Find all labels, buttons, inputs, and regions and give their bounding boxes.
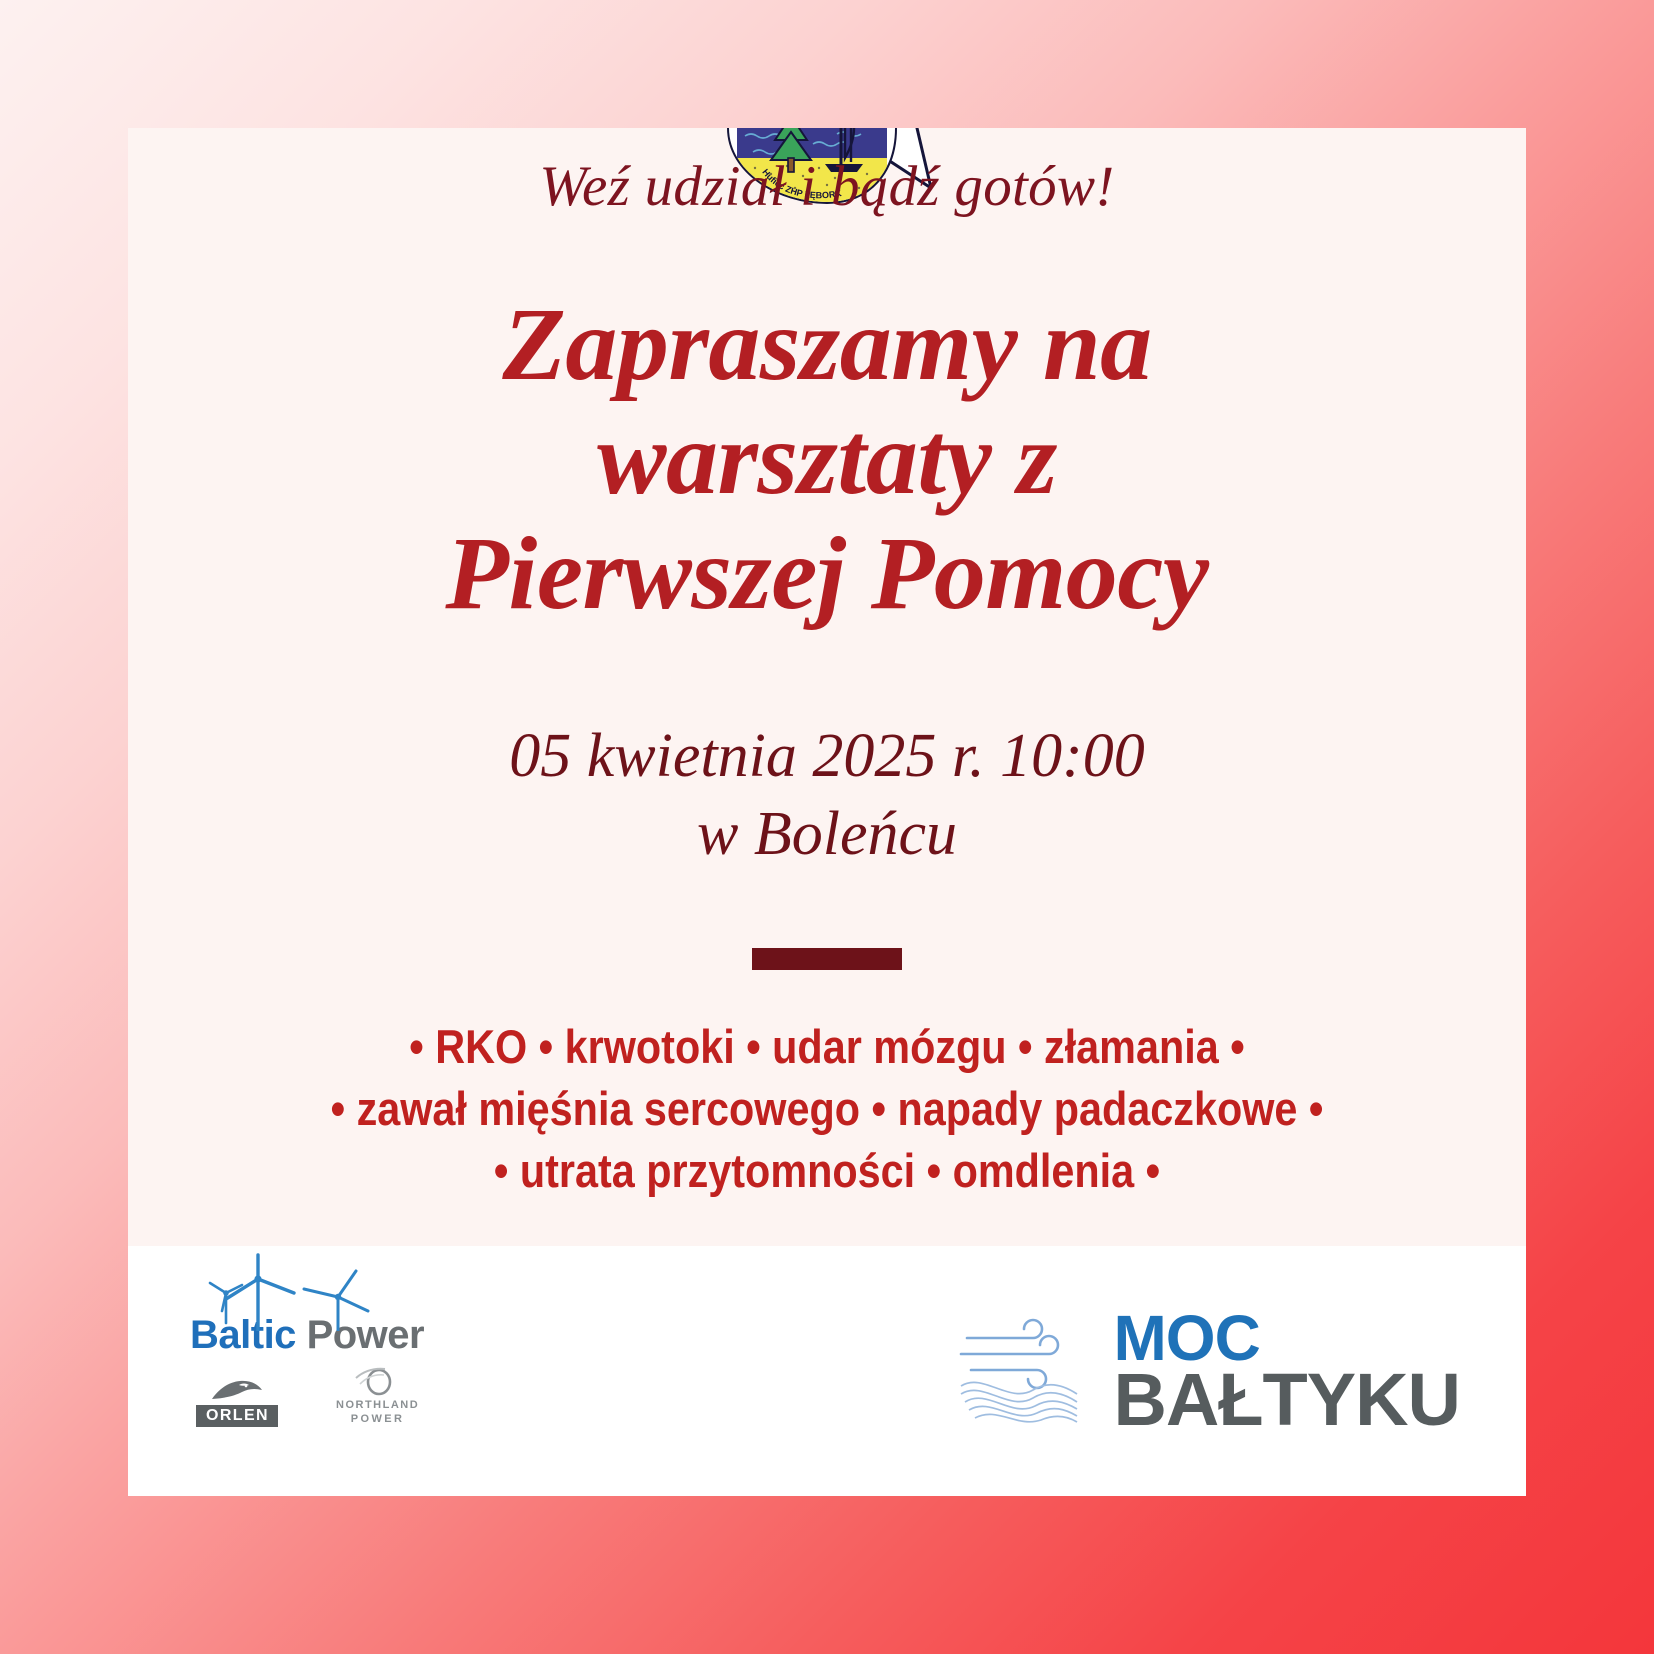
baltic-power-logo: Baltic Power: [190, 1315, 424, 1355]
divider: [752, 948, 902, 970]
orlen-logo: ORLEN: [196, 1378, 278, 1427]
baltyku-word: BAŁTYKU: [1113, 1367, 1460, 1432]
wind-waves-icon: [957, 1312, 1085, 1430]
headline-line-3: Pierwszej Pomocy: [188, 517, 1466, 631]
baltic-power-group: Baltic Power ORLEN: [184, 1315, 424, 1427]
topics-line-3: • utrata przytomności • omdlenia •: [251, 1140, 1404, 1202]
topics-line-1: • RKO • krwotoki • udar mózgu • złamania…: [251, 1016, 1404, 1078]
moc-baltyku-wordmark: MOC BAŁTYKU: [1113, 1310, 1460, 1431]
poster-card: SZCZEP DRUŻYN STARSZOHARCERSKICH · LEŚNI…: [128, 128, 1526, 1496]
moc-baltyku-logo: MOC BAŁTYKU: [957, 1310, 1464, 1431]
sub-sponsors-row: ORLEN NORTHLAND POWER: [190, 1365, 419, 1427]
orlen-wordmark: ORLEN: [196, 1405, 278, 1427]
northland-line-2: POWER: [351, 1413, 405, 1427]
headline-line-2: warsztaty z: [188, 402, 1466, 516]
sponsor-strip: Baltic Power ORLEN: [128, 1246, 1526, 1496]
page-title: Zapraszamy na warsztaty z Pierwszej Pomo…: [188, 288, 1466, 631]
tagline: Weź udział i bądź gotów!: [128, 156, 1526, 219]
topics-line-2: • zawał mięśnia sercowego • napady padac…: [251, 1078, 1404, 1140]
northland-power-logo: NORTHLAND POWER: [336, 1365, 419, 1427]
northland-line-1: NORTHLAND: [336, 1399, 419, 1413]
divider-container: [128, 948, 1526, 970]
topics-list: • RKO • krwotoki • udar mózgu • złamania…: [251, 1016, 1404, 1202]
event-date-time: 05 kwietnia 2025 r. 10:00: [188, 718, 1466, 796]
northland-circle-icon: [354, 1365, 402, 1399]
wind-turbine-icon: [196, 1253, 396, 1331]
headline-line-1: Zapraszamy na: [188, 288, 1466, 402]
poster-canvas: SZCZEP DRUŻYN STARSZOHARCERSKICH · LEŚNI…: [0, 0, 1654, 1654]
event-place: w Boleńcu: [188, 796, 1466, 874]
event-details: 05 kwietnia 2025 r. 10:00 w Boleńcu: [188, 718, 1466, 873]
orlen-eagle-icon: [208, 1378, 266, 1404]
